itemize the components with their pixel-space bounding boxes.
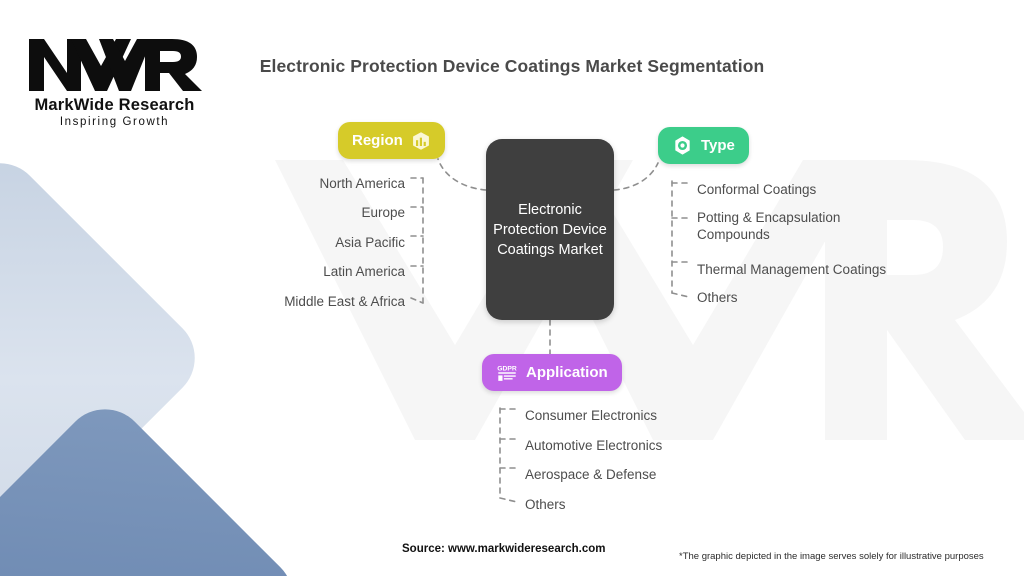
- branch-badge-application[interactable]: GDPR Application: [482, 354, 622, 391]
- brand-tagline: Inspiring Growth: [27, 116, 202, 128]
- infographic-canvas: MarkWide Research Inspiring Growth Elect…: [0, 0, 1024, 576]
- application-item-2: Aerospace & Defense: [525, 466, 825, 483]
- region-item-2: Asia Pacific: [160, 234, 405, 251]
- application-item-1: Automotive Electronics: [525, 437, 825, 454]
- gear-aperture-icon: [672, 135, 693, 156]
- region-item-1: Europe: [160, 204, 405, 221]
- type-item-2: Thermal Management Coatings: [697, 261, 987, 278]
- branch-label-application: Application: [526, 364, 608, 381]
- decor-square-dark: [0, 392, 310, 576]
- connector-center-region: [438, 159, 486, 190]
- brand-logo: MarkWide Research Inspiring Growth: [27, 33, 202, 128]
- page-title: Electronic Protection Device Coatings Ma…: [0, 56, 1024, 77]
- application-item-0: Consumer Electronics: [525, 407, 825, 424]
- region-item-0: North America: [160, 175, 405, 192]
- center-node-label: Electronic Protection Device Coatings Ma…: [486, 200, 614, 260]
- type-item-3: Others: [697, 289, 987, 306]
- branch-label-region: Region: [352, 132, 403, 149]
- svg-text:GDPR: GDPR: [497, 365, 517, 372]
- branch-label-type: Type: [701, 137, 735, 154]
- brand-name: MarkWide Research: [27, 96, 202, 115]
- source-text: Source: www.markwideresearch.com: [402, 543, 605, 555]
- region-item-3: Latin America: [160, 263, 405, 280]
- gdpr-document-icon: GDPR: [496, 362, 518, 384]
- branch-badge-region[interactable]: Region: [338, 122, 445, 159]
- type-item-1: Potting & Encapsulation Compounds: [697, 209, 887, 243]
- center-node: Electronic Protection Device Coatings Ma…: [486, 139, 614, 320]
- hex-bars-icon: [411, 131, 431, 151]
- connector-center-type: [614, 163, 658, 190]
- region-item-4: Middle East & Africa: [160, 293, 405, 310]
- application-item-3: Others: [525, 496, 825, 513]
- branch-badge-type[interactable]: Type: [658, 127, 749, 164]
- type-item-0: Conformal Coatings: [697, 181, 987, 198]
- disclaimer-text: *The graphic depicted in the image serve…: [679, 551, 984, 562]
